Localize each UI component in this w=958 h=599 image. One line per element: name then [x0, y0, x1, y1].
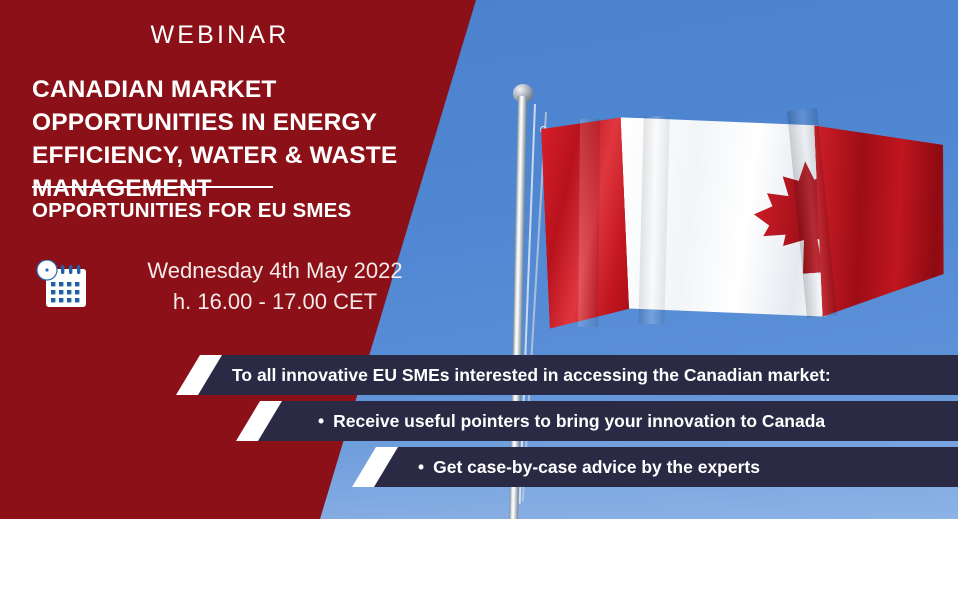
flag-white-band: [621, 109, 826, 325]
eyebrow-label: WEBINAR: [0, 21, 440, 50]
banner-strip-1: To all innovative EU SMEs interested in …: [196, 355, 958, 395]
schedule-date: Wednesday 4th May 2022: [110, 255, 440, 286]
footer-logo-bar: EU TECHBRIDGE ★ ★ ★ ★ ★ ★ ★ ★ Co-funded …: [0, 519, 958, 599]
banner-text-3: •Get case-by-case advice by the experts: [418, 457, 760, 478]
schedule-text: Wednesday 4th May 2022 h. 16.00 - 17.00 …: [110, 255, 440, 317]
calendar-icon: [34, 260, 90, 310]
flag-right-red-band: [813, 103, 950, 316]
banner-label-3: Get case-by-case advice by the experts: [433, 457, 760, 477]
canadian-flag: [541, 103, 950, 328]
schedule-time: h. 16.00 - 17.00 CET: [110, 286, 440, 317]
flag-left-red-band: [541, 117, 632, 328]
banner-strip-3: •Get case-by-case advice by the experts: [372, 447, 958, 487]
banner-text-1: To all innovative EU SMEs interested in …: [232, 365, 831, 386]
banner-text-2: •Receive useful pointers to bring your i…: [318, 411, 825, 432]
banner-label-2: Receive useful pointers to bring your in…: [333, 411, 825, 431]
banner-bullet-3: •: [418, 457, 424, 477]
title-divider: [32, 186, 273, 188]
page-subtitle: OPPORTUNITIES FOR EU SMES: [32, 199, 472, 223]
banner-bullet-2: •: [318, 411, 324, 431]
webinar-poster: WEBINAR CANADIAN MARKET OPPORTUNITIES IN…: [0, 0, 958, 599]
banner-strip-2: •Receive useful pointers to bring your i…: [256, 401, 958, 441]
